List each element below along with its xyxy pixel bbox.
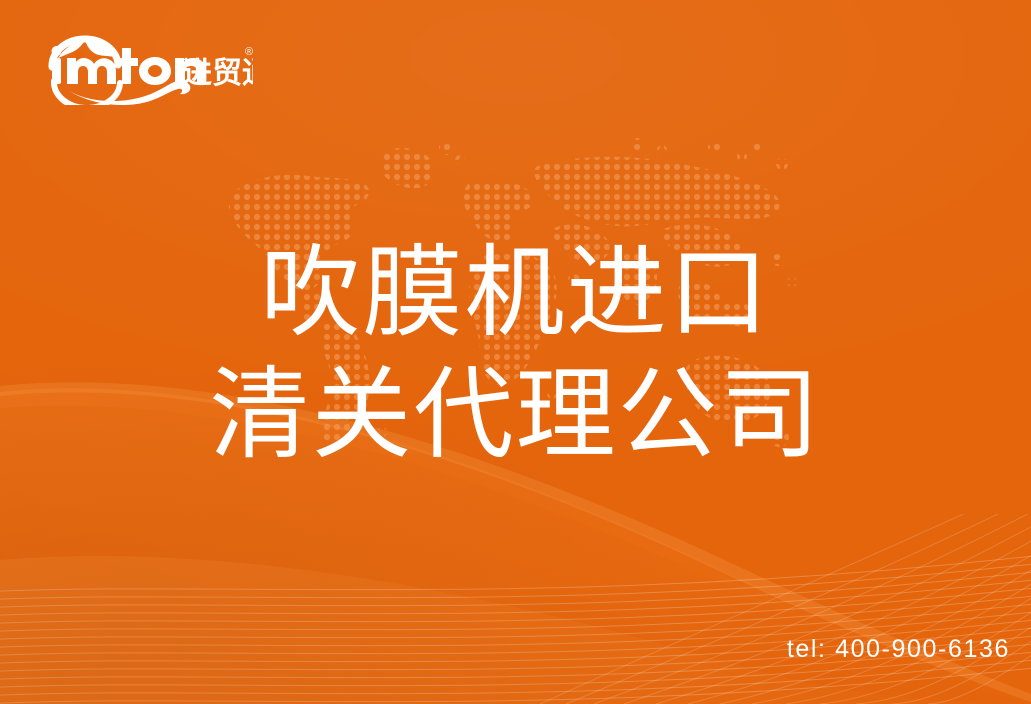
trademark-symbol: ®: [245, 46, 253, 58]
logo-wordmark-chinese: 进贸通: [182, 57, 253, 90]
headline: 吹膜机进口 清关代理公司: [0, 232, 1031, 476]
contact-phone[interactable]: tel: 400-900-6136: [787, 635, 1010, 664]
company-logo[interactable]: 进贸通 ®: [38, 33, 253, 105]
promo-banner: 进贸通 ® 吹膜机进口 清关代理公司 tel: 400-900-6136: [0, 0, 1031, 704]
headline-line-1: 吹膜机进口: [0, 232, 1031, 354]
headline-line-2: 清关代理公司: [0, 354, 1031, 476]
swoosh-icon: [68, 81, 190, 105]
